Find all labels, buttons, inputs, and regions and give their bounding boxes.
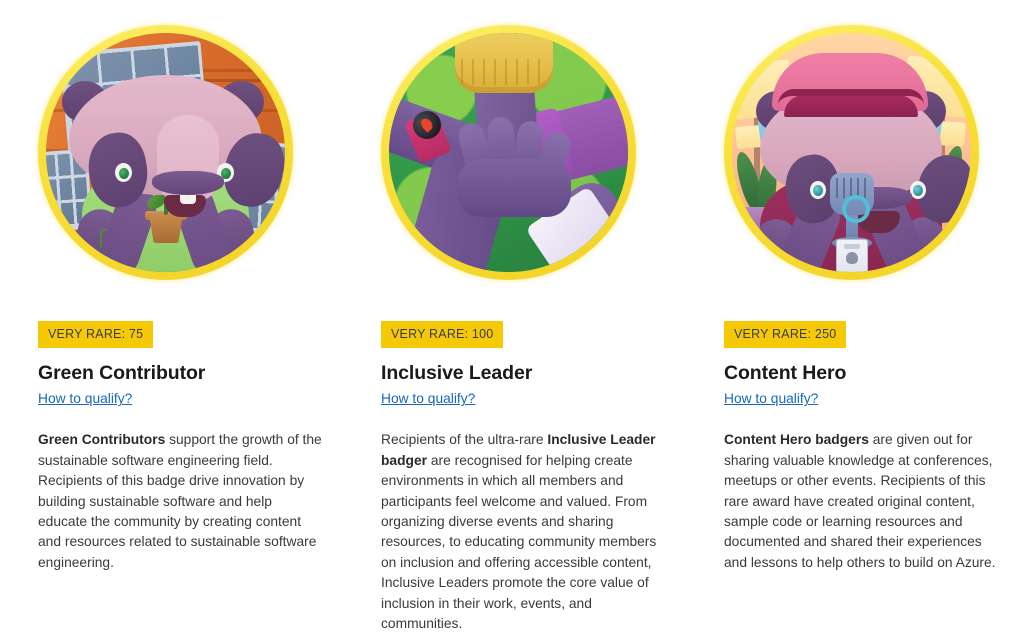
badge-description: Content Hero badgers are given out for s… [724,430,1005,573]
palm [457,159,571,217]
badge-artwork-disc [46,33,285,272]
id-badge-card [836,239,868,272]
badge-title: Green Contributor [38,362,323,384]
badge-artwork-disc [389,33,628,272]
badge-title: Inclusive Leader [381,362,664,384]
how-to-qualify-link[interactable]: How to qualify? [724,391,818,406]
badge-description: Recipients of the ultra-rare Inclusive L… [381,430,664,634]
badge-artwork-disc [732,33,971,272]
scene-conference-stage [732,33,971,272]
badge-description-lead: Content Hero badgers [724,432,869,447]
badge-description: Green Contributors support the growth of… [38,430,323,573]
badge-gallery: VERY RARE: 75 Green Contributor How to q… [0,0,1024,634]
how-to-qualify-link[interactable]: How to qualify? [381,391,475,406]
status-badge-rarity: VERY RARE: 75 [38,321,153,348]
badge-card-green-contributor: VERY RARE: 75 Green Contributor How to q… [0,0,341,634]
badge-title: Content Hero [724,362,1005,384]
badge-description-body: support the growth of the sustainable so… [38,432,322,569]
badger-eye [910,181,926,199]
plant-pot-icon [149,215,183,243]
status-badge-rarity: VERY RARE: 250 [724,321,846,348]
status-badge-rarity: VERY RARE: 100 [381,321,503,348]
how-to-qualify-link[interactable]: How to qualify? [38,391,132,406]
badge-description-body: are given out for sharing valuable knowl… [724,432,996,569]
badge-description-lead: Green Contributors [38,432,165,447]
scene-hands-together [389,33,628,272]
badger-head [69,75,262,195]
badge-card-inclusive-leader: VERY RARE: 100 Inclusive Leader How to q… [341,0,682,634]
scene-solar-wall [46,33,285,272]
badge-description-prefix: Recipients of the ultra-rare [381,432,547,447]
badge-description-body: are recognised for helping create enviro… [381,453,656,631]
inclusive-leader-hands-illustration [381,25,636,280]
green-contributor-badger-illustration [38,25,293,280]
stacked-hands [441,115,581,225]
badge-card-content-hero: VERY RARE: 250 Content Hero How to quali… [682,0,1023,634]
badger-eye [810,181,826,199]
badger-snout [152,171,224,195]
headphone-band-icon [778,89,924,105]
yellow-sleeve-cuff [455,33,553,93]
badger-eye [115,163,132,182]
content-hero-badger-illustration [724,25,979,280]
badger-tooth [180,195,196,204]
microphone-ring [842,195,870,223]
